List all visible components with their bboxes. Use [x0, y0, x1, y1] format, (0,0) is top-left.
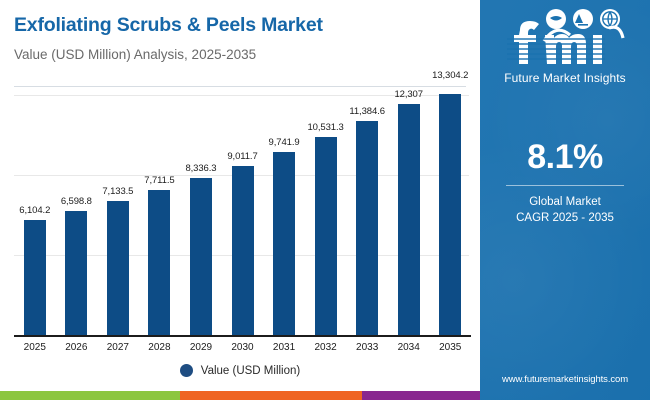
bar-series: 6,104.26,598.87,133.57,711.58,336.39,011…	[14, 94, 471, 335]
fmi-logo: Future Market Insights	[480, 8, 650, 85]
bar-column[interactable]: 13,304.2	[429, 94, 471, 335]
bar-rect[interactable]	[273, 152, 295, 335]
header-divider	[14, 86, 466, 87]
bar-value-label: 9,011.7	[227, 151, 257, 162]
bar-rect[interactable]	[232, 166, 254, 335]
bar-value-label: 6,104.2	[19, 205, 50, 216]
bar-column[interactable]: 6,104.2	[14, 94, 56, 335]
bar-column[interactable]: 9,741.9	[263, 94, 305, 335]
legend-label: Value (USD Million)	[201, 365, 300, 377]
strip-segment-purple	[362, 391, 480, 400]
bar-value-label: 11,384.6	[349, 106, 384, 117]
cagr-description-line2: CAGR 2025 - 2035	[480, 210, 650, 226]
x-axis-tick-2025: 2025	[14, 339, 56, 359]
chart-legend: Value (USD Million)	[0, 364, 480, 377]
x-axis-tick-2029: 2029	[180, 339, 222, 359]
market-chart-infographic: Exfoliating Scrubs & Peels Market Value …	[0, 0, 650, 400]
bar-rect[interactable]	[315, 137, 337, 335]
bar-rect[interactable]	[190, 178, 212, 335]
bar-column[interactable]: 12,307	[388, 94, 430, 335]
bar-rect[interactable]	[65, 211, 87, 335]
chart-subtitle: Value (USD Million) Analysis, 2025-2035	[14, 46, 480, 64]
bar-rect[interactable]	[148, 190, 170, 335]
page-title: Exfoliating Scrubs & Peels Market	[14, 12, 480, 38]
cagr-description-line1: Global Market	[480, 194, 650, 210]
bar-rect[interactable]	[439, 94, 461, 335]
website-url: www.futuremarketinsights.com	[480, 374, 650, 385]
bar-value-label: 12,307	[394, 89, 422, 100]
bottom-color-strip	[0, 391, 480, 400]
bar-column[interactable]: 8,336.3	[180, 94, 222, 335]
bar-rect[interactable]	[356, 121, 378, 335]
x-axis-tick-2028: 2028	[139, 339, 181, 359]
filled-circle-icon	[180, 364, 193, 377]
cagr-callout: 8.1% Global Market CAGR 2025 - 2035	[480, 138, 650, 226]
bar-rect[interactable]	[24, 220, 46, 335]
bar-value-label: 10,531.3	[308, 122, 344, 133]
cagr-divider	[506, 185, 624, 186]
bar-column[interactable]: 6,598.8	[56, 94, 98, 335]
strip-segment-green	[0, 391, 180, 400]
bar-value-label: 13,304.2	[432, 70, 468, 81]
x-axis-tick-2033: 2033	[346, 339, 388, 359]
bar-column[interactable]: 7,711.5	[139, 94, 181, 335]
bar-rect[interactable]	[398, 104, 420, 335]
bar-value-label: 7,711.5	[144, 175, 174, 186]
x-axis-tick-2034: 2034	[388, 339, 430, 359]
x-axis-tick-2031: 2031	[263, 339, 305, 359]
bar-column[interactable]: 7,133.5	[97, 94, 139, 335]
bar-value-label: 6,598.8	[61, 196, 92, 207]
bar-value-label: 7,133.5	[102, 186, 133, 197]
strip-segment-orange	[180, 391, 362, 400]
x-axis-tick-2030: 2030	[222, 339, 264, 359]
bar-rect[interactable]	[107, 201, 129, 335]
x-axis-tick-2027: 2027	[97, 339, 139, 359]
x-axis-labels: 2025202620272028202920302031203220332034…	[14, 339, 471, 359]
bar-value-label: 9,741.9	[269, 137, 300, 148]
bar-column[interactable]: 9,011.7	[222, 94, 264, 335]
chart-panel: Exfoliating Scrubs & Peels Market Value …	[0, 0, 480, 400]
x-axis-tick-2035: 2035	[429, 339, 471, 359]
logo-tagline: Future Market Insights	[480, 71, 650, 85]
x-axis-tick-2032: 2032	[305, 339, 347, 359]
brand-sidebar: Future Market Insights 8.1% Global Marke…	[480, 0, 650, 400]
bar-value-label: 8,336.3	[185, 163, 216, 174]
bar-column[interactable]: 10,531.3	[305, 94, 347, 335]
cagr-value: 8.1%	[480, 138, 650, 176]
chart-header: Exfoliating Scrubs & Peels Market Value …	[0, 0, 480, 88]
x-axis-tick-2026: 2026	[56, 339, 98, 359]
bar-column[interactable]: 11,384.6	[346, 94, 388, 335]
x-axis-line	[14, 335, 471, 337]
fmi-logo-icon	[495, 8, 635, 70]
